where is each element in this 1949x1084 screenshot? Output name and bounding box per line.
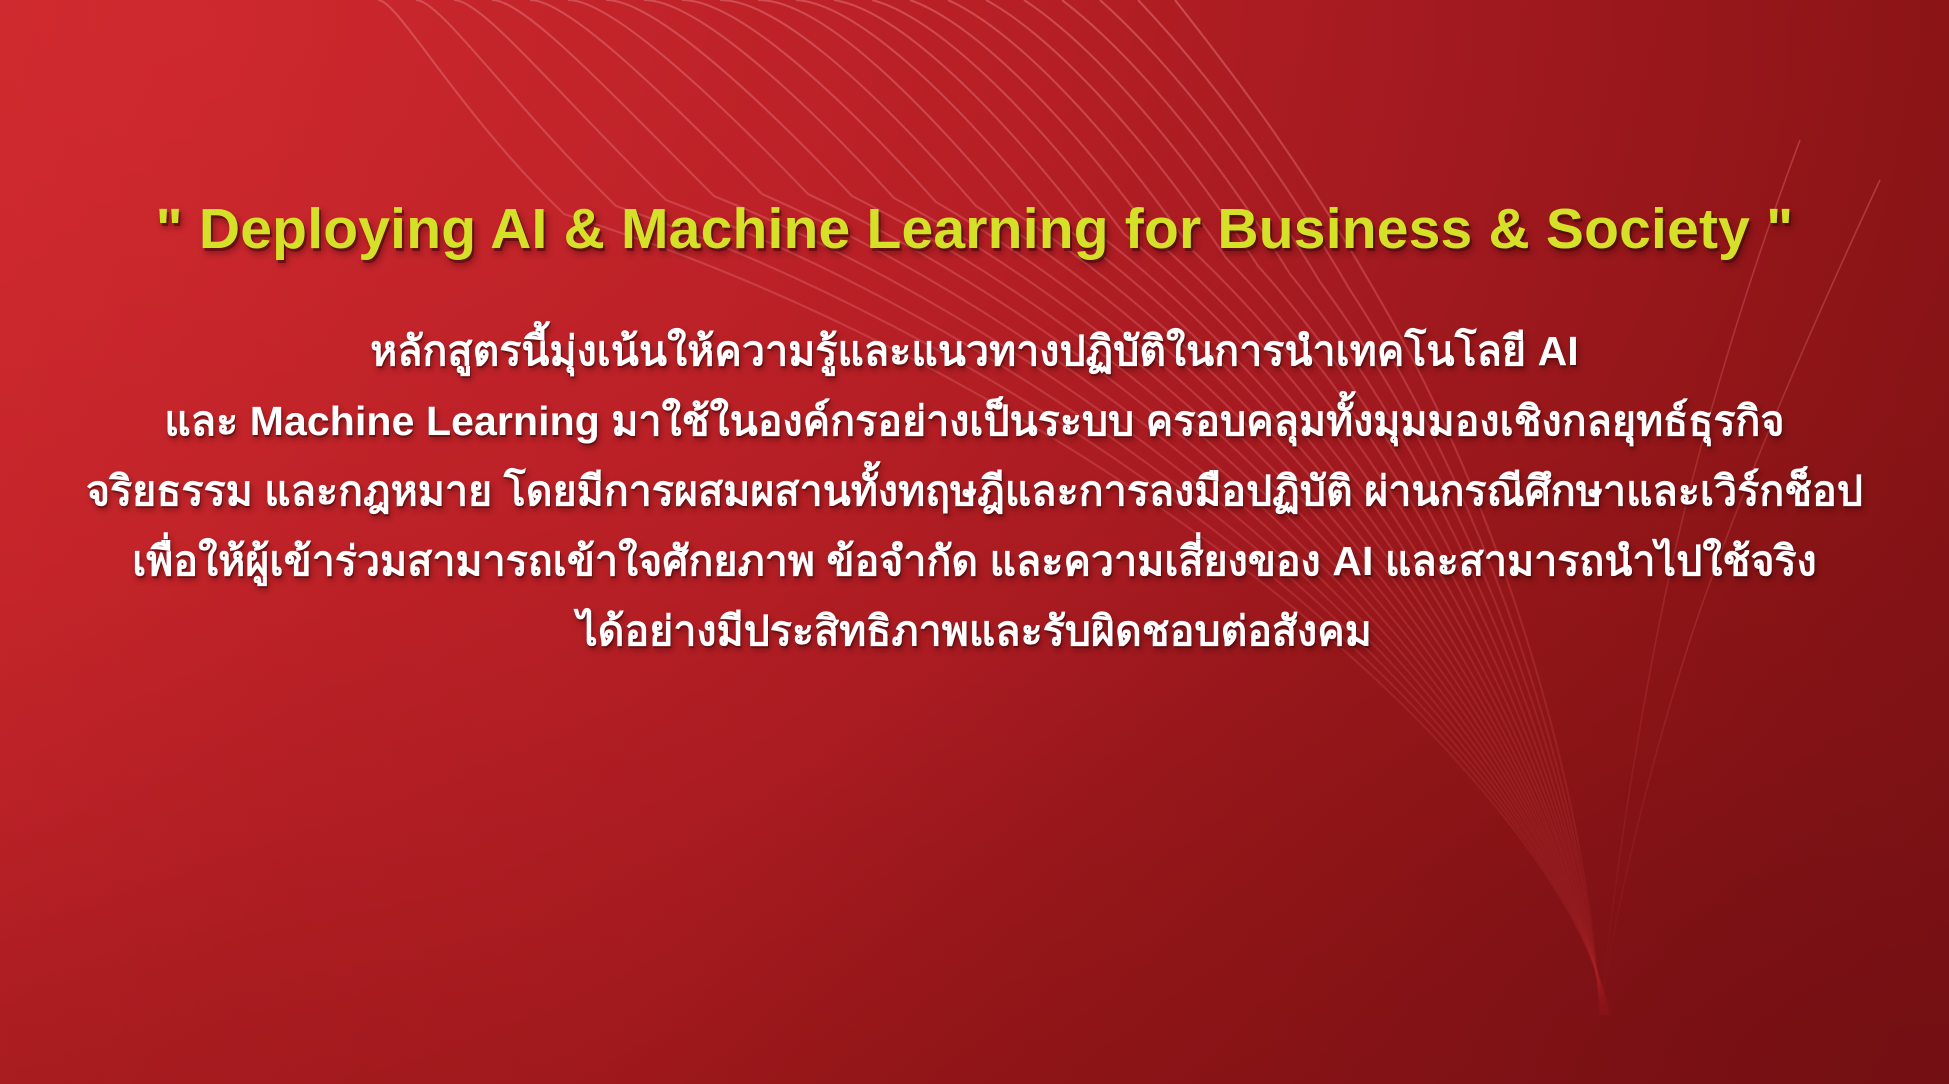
body-line: และ Machine Learning มาใช้ในองค์กรอย่างเ…	[0, 386, 1949, 456]
body-line: ได้อย่างมีประสิทธิภาพและรับผิดชอบต่อสังค…	[0, 596, 1949, 666]
slide-canvas: " Deploying AI & Machine Learning for Bu…	[0, 0, 1949, 1084]
body-line: เพื่อให้ผู้เข้าร่วมสามารถเข้าใจศักยภาพ ข…	[0, 526, 1949, 596]
slide-content: " Deploying AI & Machine Learning for Bu…	[0, 0, 1949, 1084]
body-line: หลักสูตรนี้มุ่งเน้นให้ความรู้และแนวทางปฏ…	[0, 316, 1949, 386]
body-paragraph: หลักสูตรนี้มุ่งเน้นให้ความรู้และแนวทางปฏ…	[0, 316, 1949, 666]
body-line: จริยธรรม และกฎหมาย โดยมีการผสมผสานทั้งทฤ…	[0, 456, 1949, 526]
page-title: " Deploying AI & Machine Learning for Bu…	[156, 196, 1794, 262]
